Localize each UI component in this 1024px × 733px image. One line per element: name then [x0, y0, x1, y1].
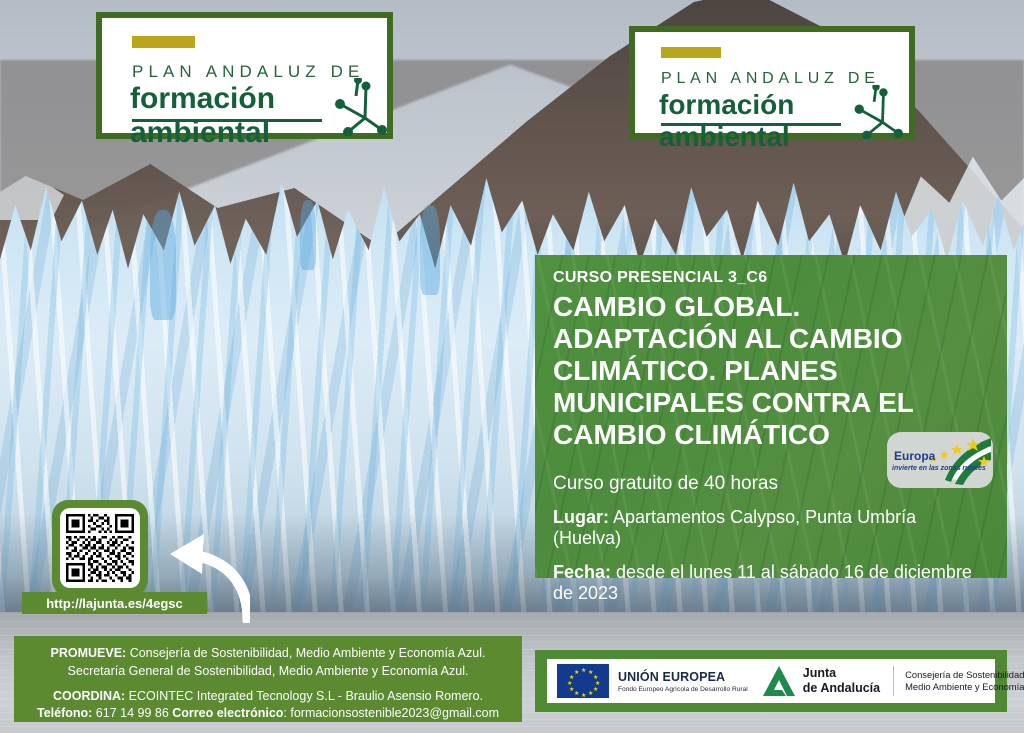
course-title: CAMBIO GLOBAL. ADAPTACIÓN AL CAMBIO CLIM… [553, 291, 989, 451]
course-info-panel: CURSO PRESENCIAL 3_C6 CAMBIO GLOBAL. ADA… [535, 255, 1007, 578]
coordina-value: ECOINTEC Integrated Tecnology S.L - Brau… [125, 689, 483, 703]
contact-line: Teléfono: 617 14 99 86 Correo electrónic… [24, 705, 512, 723]
junta-line2: de Andalucía [803, 681, 880, 696]
logo-branch-icon [793, 85, 905, 139]
footer-credits-panel: PROMUEVE: Consejería de Sostenibilidad, … [14, 636, 522, 722]
place-label: Lugar: [553, 507, 609, 527]
coordina-line: COORDINA: ECOINTEC Integrated Tecnology … [24, 688, 512, 706]
logo-divider [893, 666, 894, 696]
correo-label: Correo electrónico [172, 706, 283, 720]
junta-text: Junta de Andalucía [803, 666, 880, 696]
promueve-line: PROMUEVE: Consejería de Sostenibilidad, … [24, 645, 512, 663]
curved-arrow-icon [160, 528, 250, 623]
course-date: Fecha: desde el lunes 11 al sábado 16 de… [553, 562, 989, 605]
correo-value[interactable]: : formacionsostenible2023@gmail.com [283, 706, 499, 720]
telefono-label: Teléfono: [37, 706, 92, 720]
qr-code-background [60, 508, 140, 588]
eu-subtitle: Fondo Europeo Agrícola de Desarrollo Rur… [618, 686, 748, 693]
promueve-line2: Secretaría General de Sostenibilidad, Me… [24, 663, 512, 681]
coordina-label: COORDINA: [53, 689, 125, 703]
course-kicker: CURSO PRESENCIAL 3_C6 [553, 269, 989, 287]
europa-rural-badge: Europa invierte en las zonas rurales [887, 432, 993, 488]
eu-text-block: UNIÓN EUROPEA Fondo Europeo Agrícola de … [618, 670, 748, 693]
qr-code-container[interactable] [52, 500, 148, 596]
institutional-logos-panel: ★★★ ★★★ ★★★ ★★★ UNIÓN EUROPEA Fondo Euro… [535, 650, 1007, 712]
date-value: desde el lunes 11 al sábado 16 de diciem… [553, 562, 972, 604]
footer-spacer [24, 681, 512, 688]
plan-andaluz-logo-left: PLAN ANDALUZ DE formación ambiental [96, 12, 393, 139]
promueve-label: PROMUEVE: [51, 646, 127, 660]
promueve-value: Consejería de Sostenibilidad, Medio Ambi… [126, 646, 485, 660]
eu-title: UNIÓN EUROPEA [618, 670, 748, 684]
eu-flag-icon: ★★★ ★★★ ★★★ ★★★ [557, 664, 609, 698]
course-place: Lugar: Apartamentos Calypso, Punta Umbrí… [553, 507, 989, 550]
consejeria-line1: Consejería de Sostenibilidad, [905, 669, 1024, 681]
ice-crevasse [150, 210, 176, 320]
logo-gold-bar [132, 36, 195, 48]
junta-andalucia-icon [762, 665, 796, 697]
qr-code-icon[interactable] [66, 514, 134, 582]
logo-branch-icon [270, 78, 388, 136]
junta-logo: Junta de Andalucía [762, 665, 880, 697]
poster-canvas: PLAN ANDALUZ DE formación ambiental PLAN… [0, 0, 1024, 733]
junta-line1: Junta [803, 666, 880, 681]
consejeria-line2: Medio Ambiente y Economía Azul [905, 681, 1024, 693]
institutional-logos-strip: ★★★ ★★★ ★★★ ★★★ UNIÓN EUROPEA Fondo Euro… [547, 659, 995, 703]
ice-crevasse [300, 200, 316, 270]
telefono-value: 617 14 99 86 [92, 706, 172, 720]
date-label: Fecha: [553, 562, 611, 582]
ice-crevasse [420, 205, 440, 295]
europa-badge-title: Europa [894, 449, 935, 463]
plan-andaluz-logo-right: PLAN ANDALUZ DE formación ambiental [629, 26, 915, 139]
logo-gold-bar [661, 47, 721, 58]
europa-badge-subtitle: invierte en las zonas rurales [892, 465, 986, 472]
consejeria-text: Consejería de Sostenibilidad, Medio Ambi… [905, 669, 1024, 694]
